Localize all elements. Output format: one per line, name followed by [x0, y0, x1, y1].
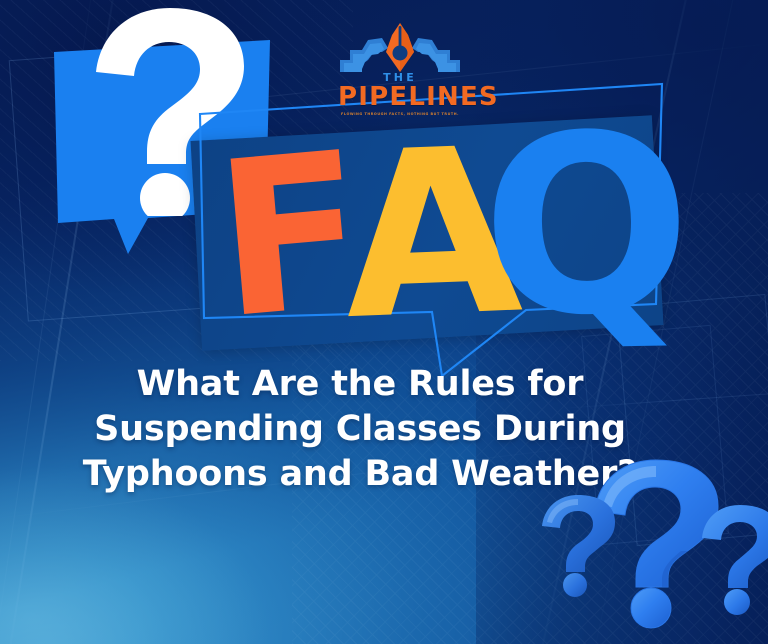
faq-wordmark: F A Q — [214, 112, 664, 342]
pen-nib-pipes-logo-icon — [338, 22, 462, 74]
brand-logo: THE PIPELINES FLOWING THROUGH FACTS, NOT… — [338, 22, 462, 114]
logo-name-text: PIPELINES — [338, 84, 462, 110]
question-mark-small-icon — [540, 492, 618, 596]
faq-graphic-canvas: F A Q THE PIPELINES FLOWING THROUGH FACT… — [0, 0, 768, 644]
page-title: What Are the Rules for Suspending Classe… — [60, 362, 660, 496]
question-mark-edge-icon — [700, 502, 768, 614]
logo-tagline-text: FLOWING THROUGH FACTS, NOTHING BUT TRUTH… — [338, 113, 462, 116]
faq-letter-q: Q — [480, 102, 684, 351]
